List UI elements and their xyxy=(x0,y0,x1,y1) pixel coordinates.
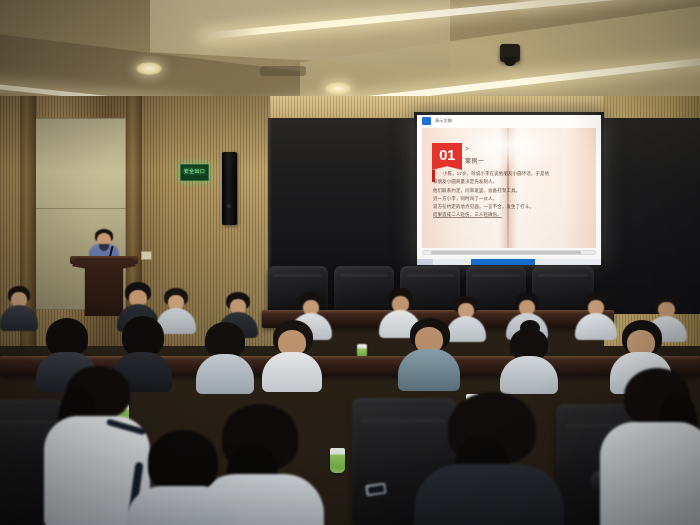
audience-member xyxy=(414,392,564,525)
section-number-badge: 01 xyxy=(432,143,462,170)
audience-member xyxy=(2,286,36,330)
wall-outlet xyxy=(141,251,152,260)
slide-body-line: 和朋友小圆商量决定先发制人。 xyxy=(433,179,583,184)
projection-screen: 演示文稿 01 > 案例一 小陈，17岁，听说小李在说他朋友小圆坏话，于是他 和… xyxy=(414,112,604,272)
audience-member xyxy=(500,326,558,392)
lecture-hall-photo: 安全出口 演示文稿 01 > 案例一 小陈，17岁，听说小李在说他朋友小圆坏话，… xyxy=(0,0,700,525)
desk-surface xyxy=(0,356,700,360)
slide-body-line: 结果造成二人轻伤，三人轻微伤。 xyxy=(433,212,583,217)
slide-body-text: 小陈，17岁，听说小李在说他朋友小圆坏话，于是他 和朋友小圆商量决定先发制人。 … xyxy=(433,171,583,221)
audience-member xyxy=(196,322,254,390)
exit-sign: 安全出口 xyxy=(180,164,209,181)
app-logo-icon xyxy=(422,117,431,125)
taskbar-start-area[interactable] xyxy=(417,259,433,265)
slide-body-line: 小陈，17岁，听说小李在说他朋友小圆坏话，于是他 xyxy=(433,171,583,176)
horizontal-scrollbar[interactable] xyxy=(422,250,596,255)
ceiling-projector xyxy=(500,44,520,62)
audience-member xyxy=(600,368,700,525)
audience-member xyxy=(126,430,236,525)
exit-sign-label: 安全出口 xyxy=(184,170,206,175)
slide-body-line: 双方在约定的地点见面，一言不合，发生了打斗。 xyxy=(433,204,583,209)
recessed-downlight xyxy=(136,62,162,75)
arrow-marker: > xyxy=(465,146,469,153)
wall-speaker xyxy=(222,152,237,225)
audience-member xyxy=(398,318,460,390)
taskbar-active-window[interactable] xyxy=(471,259,535,265)
presentation-slide: 演示文稿 01 > 案例一 小陈，17岁，听说小李在说他朋友小圆坏话，于是他 和… xyxy=(417,115,601,265)
section-number: 01 xyxy=(439,148,455,163)
recessed-downlight xyxy=(325,82,351,95)
ceiling-vent xyxy=(260,66,306,76)
audience-member xyxy=(262,320,322,390)
slide-case-title: 案例一 xyxy=(465,156,485,165)
slide-body-line: 另一方小李，同时叫了一伙人。 xyxy=(433,196,583,201)
paper-cup xyxy=(330,448,345,473)
slide-body-line: 他们联系约定，问来班里，准备打架工具。 xyxy=(433,188,583,193)
